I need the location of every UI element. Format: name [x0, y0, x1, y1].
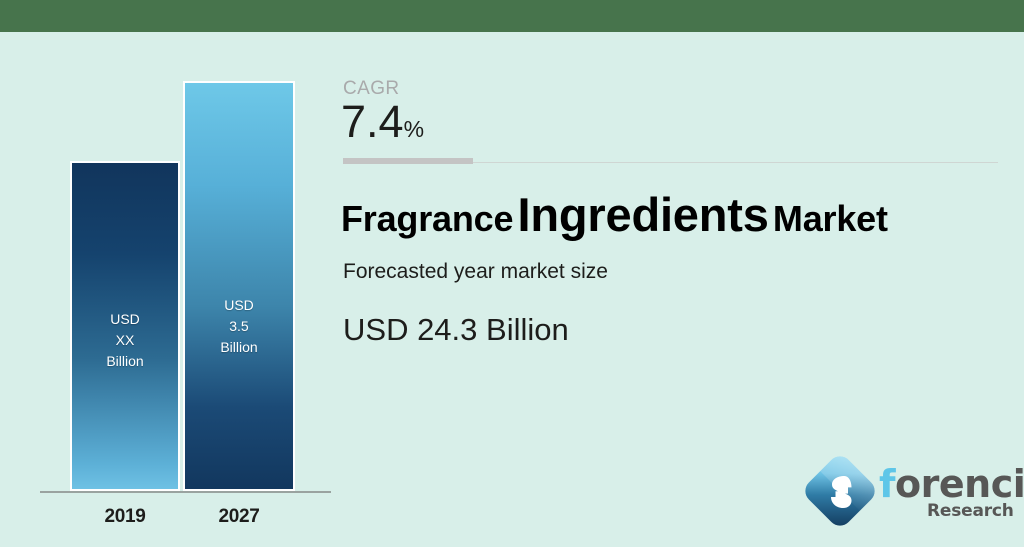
x-axis-tick-2027: 2027: [179, 506, 299, 528]
x-axis-tick-2019: 2019: [65, 506, 185, 528]
percent-sign: %: [404, 116, 424, 142]
x-axis-line: [40, 491, 331, 493]
bar-2019-currency: USD: [106, 309, 143, 330]
logo-letters-rest: orencis: [895, 462, 1024, 506]
cagr-number: 7.4: [341, 96, 404, 147]
info-panel: CAGR 7.4% Fragrance Ingredients Market F…: [340, 32, 1024, 547]
title-word-market: Market: [773, 198, 888, 239]
logo-letter-f: f: [879, 462, 895, 506]
top-green-band: [0, 0, 1024, 32]
title-word-ingredients: Ingredients: [518, 188, 769, 241]
page-title: Fragrance Ingredients Market: [341, 187, 888, 242]
bar-2027-currency: USD: [220, 295, 257, 316]
title-word-fragrance: Fragrance: [341, 198, 513, 239]
bar-2027: USD 3.5 Billion: [183, 81, 295, 491]
bar-2019-label: USD XX Billion: [106, 309, 143, 372]
bar-2019-unit: Billion: [106, 351, 143, 372]
forecast-subtitle: Forecasted year market size: [343, 260, 608, 284]
forencis-logo[interactable]: forencis Research: [812, 454, 1007, 539]
logo-subtitle: Research: [927, 501, 1014, 521]
cagr-value: 7.4%: [341, 99, 424, 144]
bar-2027-label: USD 3.5 Billion: [220, 295, 257, 358]
bar-chart: USD XX Billion USD 3.5 Billion 2019 2027: [0, 32, 340, 547]
forencis-bolt-icon: [829, 476, 853, 508]
forecast-value: USD 24.3 Billion: [343, 312, 569, 348]
bar-2019: USD XX Billion: [70, 161, 180, 491]
logo-wordmark: forencis: [879, 462, 1024, 506]
infographic-canvas: USD XX Billion USD 3.5 Billion 2019 2027…: [0, 0, 1024, 547]
bar-2027-unit: Billion: [220, 337, 257, 358]
bar-2019-amount: XX: [106, 330, 143, 351]
bar-2027-amount: 3.5: [220, 316, 257, 337]
divider-accent: [343, 158, 473, 164]
